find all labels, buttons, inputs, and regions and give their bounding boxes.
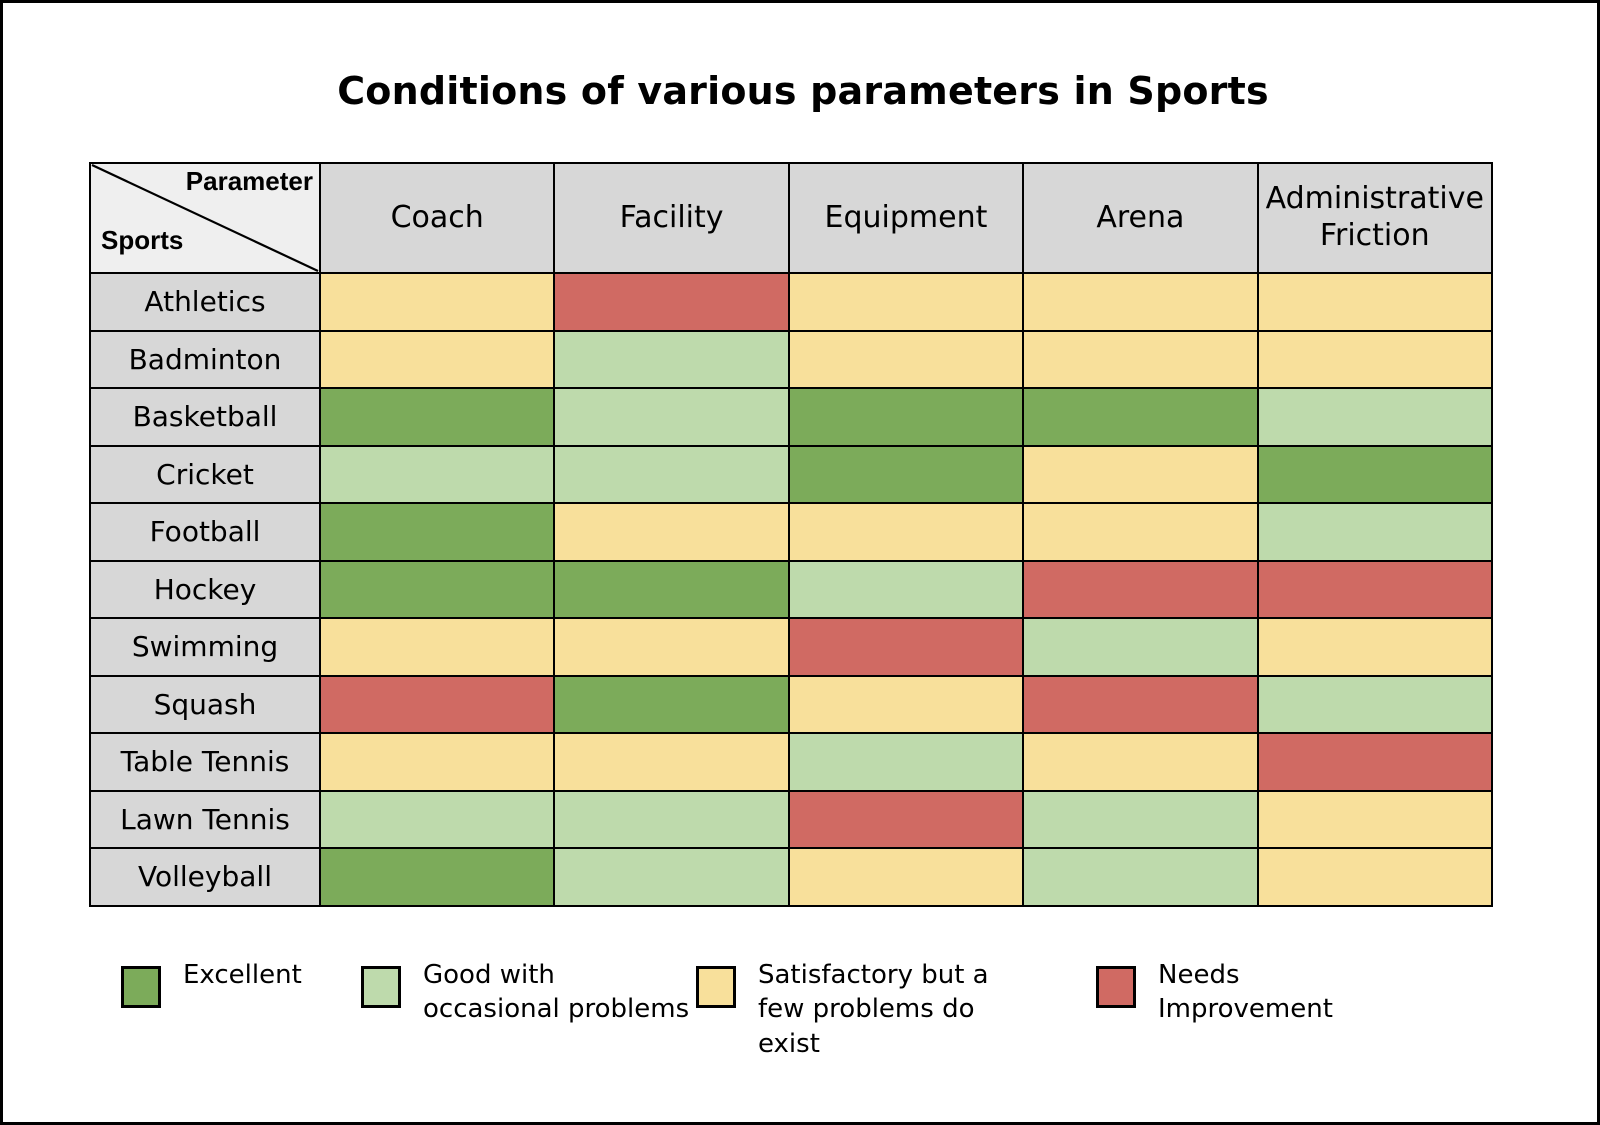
heatmap-cell [1023, 388, 1257, 446]
table-row: Basketball [90, 388, 1492, 446]
row-header-athletics: Athletics [90, 273, 320, 331]
legend-swatch-good [361, 966, 401, 1008]
heatmap-cell [789, 676, 1023, 734]
heatmap-cell [554, 618, 788, 676]
heatmap-cell [789, 503, 1023, 561]
table-row: Football [90, 503, 1492, 561]
heatmap-cell [789, 273, 1023, 331]
table-row: Athletics [90, 273, 1492, 331]
heatmap-cell [554, 676, 788, 734]
legend-item: Needs Improvement [1096, 958, 1396, 1027]
heatmap-cell [554, 331, 788, 389]
legend-swatch-satisfactory [696, 966, 736, 1008]
heatmap-cell [320, 791, 554, 849]
heatmap-cell [789, 561, 1023, 619]
heatmap-cell [789, 446, 1023, 504]
heatmap-cell [1258, 273, 1492, 331]
heatmap-cell [1023, 618, 1257, 676]
table-row: Squash [90, 676, 1492, 734]
heatmap-cell [1023, 446, 1257, 504]
row-header-squash: Squash [90, 676, 320, 734]
column-axis-label: Parameter [186, 168, 313, 195]
row-header-cricket: Cricket [90, 446, 320, 504]
column-header-administrative-friction: Administrative Friction [1258, 163, 1492, 273]
row-header-badminton: Badminton [90, 331, 320, 389]
heatmap-cell [320, 848, 554, 906]
heatmap-cell [1258, 618, 1492, 676]
heatmap-cell [1258, 561, 1492, 619]
heatmap-cell [554, 791, 788, 849]
heatmap-cell [320, 733, 554, 791]
row-axis-label: Sports [101, 227, 183, 254]
heatmap-cell [789, 388, 1023, 446]
row-header-football: Football [90, 503, 320, 561]
legend-swatch-needs-improvement [1096, 966, 1136, 1008]
heatmap-cell [789, 618, 1023, 676]
heatmap-cell [554, 561, 788, 619]
table-row: Cricket [90, 446, 1492, 504]
column-header-equipment: Equipment [789, 163, 1023, 273]
heatmap-cell [789, 733, 1023, 791]
heatmap-cell [320, 446, 554, 504]
column-header-facility: Facility [554, 163, 788, 273]
heatmap-cell [1023, 733, 1257, 791]
legend-label: Satisfactory but a few problems do exist [758, 958, 1038, 1061]
heatmap-cell [1023, 848, 1257, 906]
heatmap-cell [1023, 503, 1257, 561]
legend-item: Excellent [121, 958, 361, 1008]
legend-label: Excellent [183, 958, 302, 992]
table-row: Hockey [90, 561, 1492, 619]
legend-item: Satisfactory but a few problems do exist [696, 958, 1096, 1061]
heatmap-cell [1023, 676, 1257, 734]
table-head: Parameter Sports Coach Facility Equipmen… [90, 163, 1492, 273]
heatmap-cell [554, 388, 788, 446]
heatmap-cell [320, 561, 554, 619]
heatmap-cell [1258, 503, 1492, 561]
legend-label: Good with occasional problems [423, 958, 693, 1027]
page-title: Conditions of various parameters in Spor… [3, 69, 1600, 113]
heatmap-cell [554, 273, 788, 331]
legend-label: Needs Improvement [1158, 958, 1388, 1027]
row-header-lawn-tennis: Lawn Tennis [90, 791, 320, 849]
legend-item: Good with occasional problems [361, 958, 696, 1027]
header-row: Parameter Sports Coach Facility Equipmen… [90, 163, 1492, 273]
heatmap-cell [320, 331, 554, 389]
row-header-volleyball: Volleyball [90, 848, 320, 906]
heatmap-cell [320, 503, 554, 561]
heatmap-cell [554, 503, 788, 561]
heatmap-cell [1258, 733, 1492, 791]
heatmap-cell [320, 388, 554, 446]
table-body: AthleticsBadmintonBasketballCricketFootb… [90, 273, 1492, 906]
heatmap-cell [1023, 791, 1257, 849]
legend: ExcellentGood with occasional problemsSa… [121, 958, 1521, 1061]
heatmap-cell [554, 733, 788, 791]
heatmap-cell [789, 331, 1023, 389]
table-row: Table Tennis [90, 733, 1492, 791]
legend-swatch-excellent [121, 966, 161, 1008]
heatmap-cell [320, 618, 554, 676]
heatmap-cell [1258, 791, 1492, 849]
corner-axis-cell: Parameter Sports [90, 163, 320, 273]
heatmap-cell [1258, 331, 1492, 389]
heatmap-cell [554, 848, 788, 906]
heatmap-cell [789, 791, 1023, 849]
heatmap-cell [1258, 676, 1492, 734]
heatmap-cell [1258, 848, 1492, 906]
row-header-table-tennis: Table Tennis [90, 733, 320, 791]
figure-canvas: Conditions of various parameters in Spor… [0, 0, 1600, 1125]
table-row: Lawn Tennis [90, 791, 1492, 849]
heatmap-table: Parameter Sports Coach Facility Equipmen… [89, 162, 1493, 907]
column-header-arena: Arena [1023, 163, 1257, 273]
column-header-coach: Coach [320, 163, 554, 273]
row-header-hockey: Hockey [90, 561, 320, 619]
table-row: Volleyball [90, 848, 1492, 906]
row-header-basketball: Basketball [90, 388, 320, 446]
heatmap-cell [320, 273, 554, 331]
heatmap-cell [554, 446, 788, 504]
heatmap-cell [789, 848, 1023, 906]
row-header-swimming: Swimming [90, 618, 320, 676]
heatmap-cell [320, 676, 554, 734]
heatmap-cell [1023, 273, 1257, 331]
table-row: Badminton [90, 331, 1492, 389]
heatmap-cell [1258, 388, 1492, 446]
table-row: Swimming [90, 618, 1492, 676]
heatmap-cell [1023, 561, 1257, 619]
heatmap-cell [1258, 446, 1492, 504]
heatmap-cell [1023, 331, 1257, 389]
